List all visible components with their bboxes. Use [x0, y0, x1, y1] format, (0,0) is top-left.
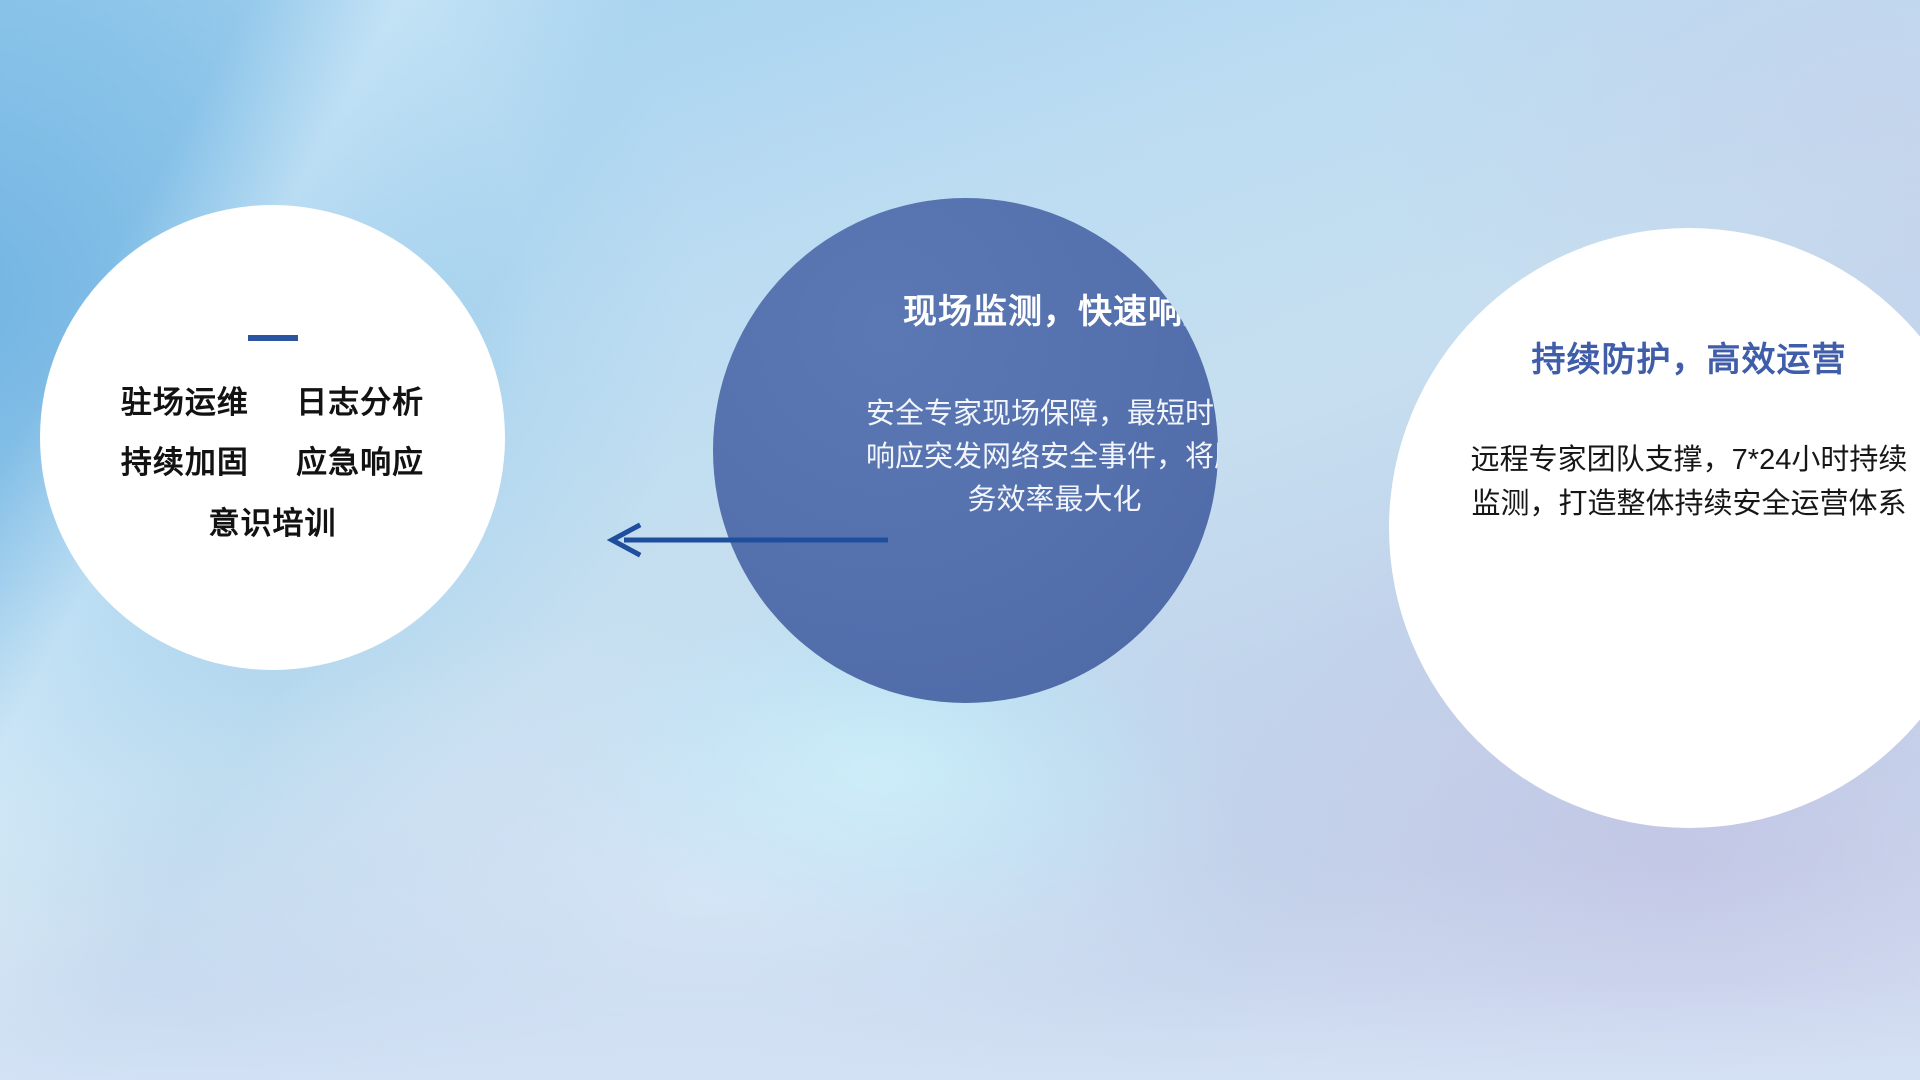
- middle-circle-shape: 现场监测，快速响应 安全专家现场保障，最短时间响应突发网络安全事件，将服务效率最…: [713, 198, 1218, 703]
- left-keyword-4: 应急响应: [296, 445, 424, 480]
- left-keyword-row-3: 意识培训: [209, 508, 337, 541]
- diagram-canvas: 驻场运维 日志分析 持续加固 应急响应 意识培训 现场监测，快速响应 安全专家现…: [0, 0, 1920, 1080]
- right-circle-title: 持续防护，高效运营: [1532, 332, 1847, 381]
- right-circle-content: 持续防护，高效运营 远程专家团队支撑，7*24小时持续监测，打造整体持续安全运营…: [1389, 228, 1920, 828]
- left-keyword-3: 持续加固: [121, 445, 249, 480]
- middle-circle-body: 安全专家现场保障，最短时间响应突发网络安全事件，将服务效率最大化: [860, 393, 1219, 522]
- left-circle-content: 驻场运维 日志分析 持续加固 应急响应 意识培训: [40, 205, 505, 670]
- left-keyword-row-2: 持续加固 应急响应: [121, 447, 424, 480]
- left-keyword-1: 驻场运维: [121, 385, 249, 420]
- right-circle-body: 远程专家团队支撑，7*24小时持续监测，打造整体持续安全运营体系: [1469, 439, 1909, 526]
- left-keyword-2: 日志分析: [296, 385, 424, 420]
- middle-circle-title: 现场监测，快速响应: [903, 284, 1218, 333]
- arrow-left-icon: [600, 518, 890, 562]
- left-keyword-row-1: 驻场运维 日志分析: [121, 387, 424, 420]
- left-divider-dash: [248, 335, 298, 341]
- middle-circle-content: 现场监测，快速响应 安全专家现场保障，最短时间响应突发网络安全事件，将服务效率最…: [713, 198, 1218, 703]
